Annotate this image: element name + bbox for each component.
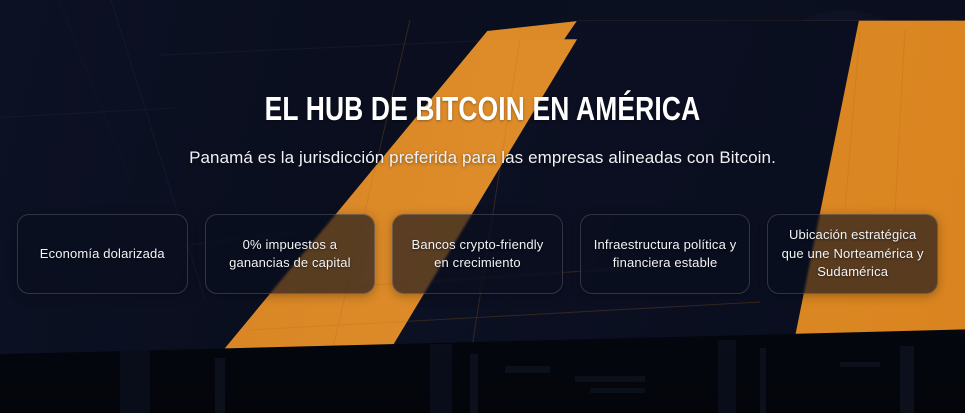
page-subtitle: Panamá es la jurisdicción preferida para… [0,147,965,169]
feature-card-label: 0% impuestos a ganancias de capital [218,236,363,273]
feature-card[interactable]: Economía dolarizada [17,214,188,294]
feature-card-label: Infraestructura política y financiera es… [593,236,738,273]
feature-card[interactable]: Bancos crypto-friendly en crecimiento [392,214,563,294]
feature-card-label: Ubicación estratégica que une Norteaméri… [780,226,925,281]
feature-card-list: Economía dolarizada 0% impuestos a ganan… [17,214,938,294]
feature-card-label: Bancos crypto-friendly en crecimiento [405,236,550,273]
page-title: EL HUB DE BITCOIN EN AMÉRICA [97,92,869,127]
hero-content: EL HUB DE BITCOIN EN AMÉRICA Panamá es l… [0,0,965,413]
feature-card[interactable]: 0% impuestos a ganancias de capital [205,214,376,294]
hero-section: EL HUB DE BITCOIN EN AMÉRICA Panamá es l… [0,0,965,413]
feature-card[interactable]: Infraestructura política y financiera es… [580,214,751,294]
feature-card-label: Economía dolarizada [40,245,165,263]
feature-card[interactable]: Ubicación estratégica que une Norteaméri… [767,214,938,294]
